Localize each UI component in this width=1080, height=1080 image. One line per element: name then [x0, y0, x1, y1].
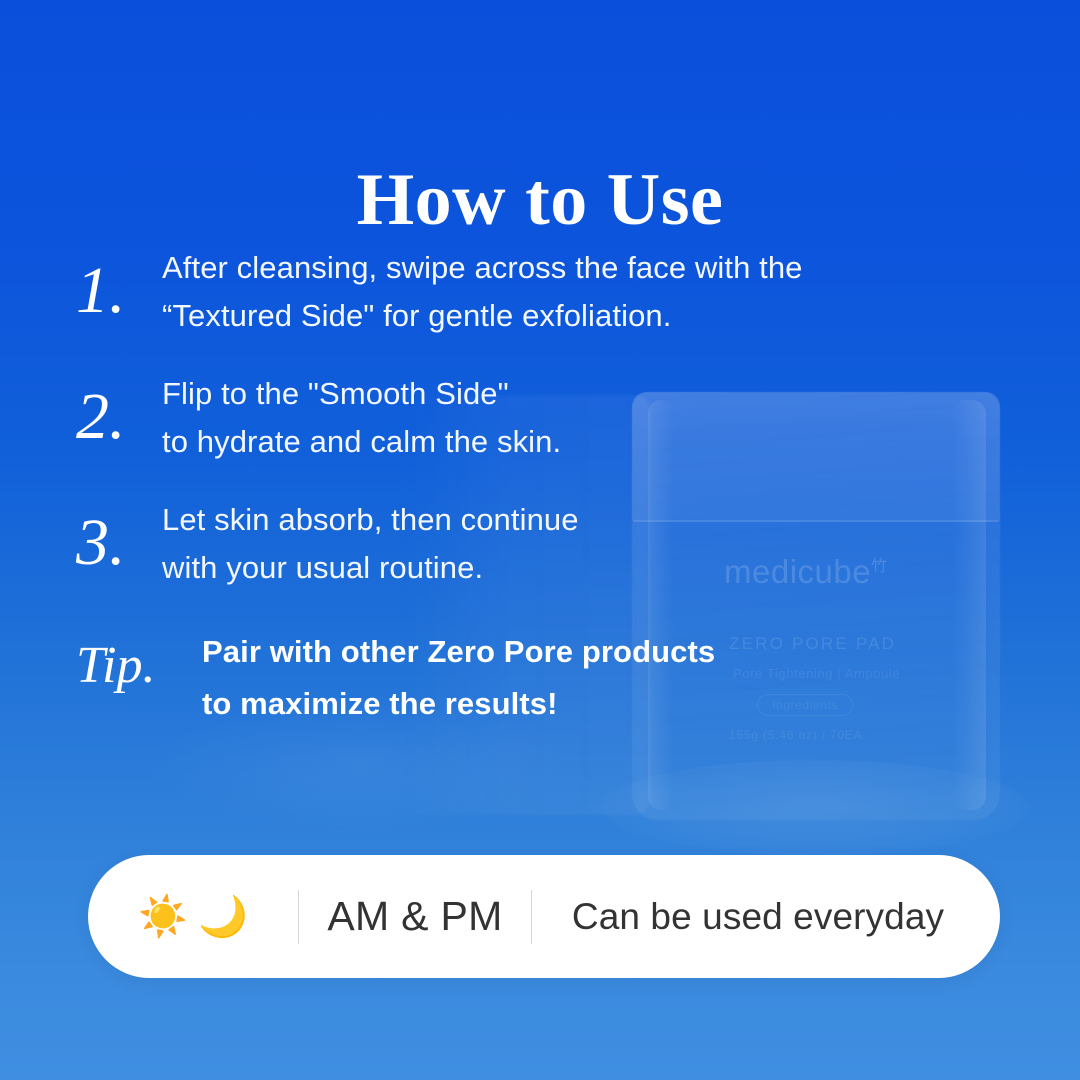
- moon-icon: 🌙: [198, 897, 248, 937]
- step-number-1: 1.: [72, 240, 162, 324]
- sun-icon: ☀️: [138, 897, 188, 937]
- usage-frequency-label: Can be used everyday: [532, 896, 1000, 938]
- step-item-1: 1. After cleansing, swipe across the fac…: [72, 240, 972, 340]
- tip-line: to maximize the results!: [202, 678, 972, 730]
- step-number-3: 3.: [72, 492, 162, 576]
- page-title: How to Use: [0, 163, 1080, 237]
- step-line: After cleansing, swipe across the face w…: [162, 244, 972, 292]
- step-text-3: Let skin absorb, then continue with your…: [162, 492, 972, 592]
- step-text-1: After cleansing, swipe across the face w…: [162, 240, 972, 340]
- tip-text: Pair with other Zero Pore products to ma…: [162, 618, 972, 730]
- step-line: to hydrate and calm the skin.: [162, 418, 972, 466]
- step-item-2: 2. Flip to the "Smooth Side" to hydrate …: [72, 366, 972, 466]
- step-line: with your usual routine.: [162, 544, 972, 592]
- step-line: Let skin absorb, then continue: [162, 496, 972, 544]
- tip-line: Pair with other Zero Pore products: [202, 626, 972, 678]
- step-item-3: 3. Let skin absorb, then continue with y…: [72, 492, 972, 592]
- background-jar-base-shadow: [600, 760, 1030, 856]
- step-line: “Textured Side" for gentle exfoliation.: [162, 292, 972, 340]
- step-number-2: 2.: [72, 366, 162, 450]
- step-line: Flip to the "Smooth Side": [162, 370, 972, 418]
- usage-time-label: AM & PM: [299, 893, 531, 940]
- tip-label: Tip.: [72, 618, 162, 692]
- tip-item: Tip. Pair with other Zero Pore products …: [72, 618, 972, 730]
- how-to-use-poster: medicube竹 ZERO PORE PAD Pore Tightening …: [0, 0, 1080, 1080]
- steps-list: 1. After cleansing, swipe across the fac…: [72, 240, 972, 756]
- usage-info-bar: ☀️ 🌙 AM & PM Can be used everyday: [88, 855, 1000, 978]
- usage-icons-group: ☀️ 🌙: [88, 897, 298, 937]
- step-text-2: Flip to the "Smooth Side" to hydrate and…: [162, 366, 972, 466]
